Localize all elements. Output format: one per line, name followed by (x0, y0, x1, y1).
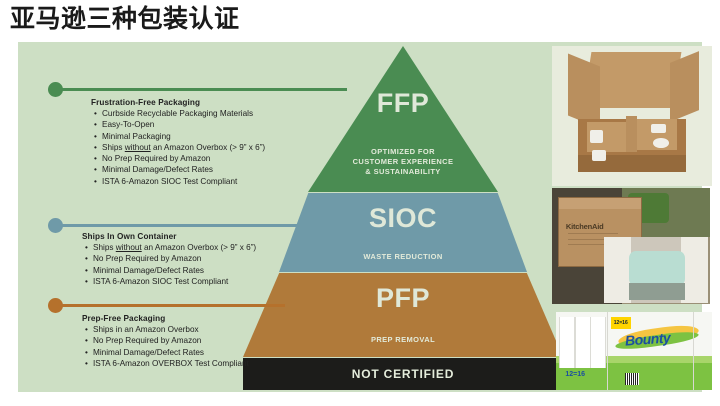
callout-dot-pfp (48, 298, 63, 313)
list-item: Easy-To-Open (102, 119, 265, 130)
list-item: Minimal Damage/Defect Rates (102, 164, 265, 175)
list-item: No Prep Required by Amazon (93, 253, 256, 264)
pyramid-tier-ffp-subtitle: OPTIMIZED FOR CUSTOMER EXPERIENCE & SUST… (308, 147, 498, 177)
pyramid-tier-pfp-subtitle-line-1: PREP REMOVAL (243, 335, 563, 345)
bounty-pack-body: Bounty 12=16 12=16 (556, 312, 712, 390)
photo-bounty-paper-towel-pack: Bounty 12=16 12=16 (556, 312, 712, 390)
page-title: 亚马逊三种包装认证 (10, 2, 240, 36)
list-item: No Prep Required by Amazon (102, 153, 265, 164)
pyramid-tier-ffp-subtitle-line-3: & SUSTAINABILITY (308, 167, 498, 177)
callout-body-ffp: Frustration-Free Packaging Curbside Recy… (91, 98, 265, 187)
pyramid-tier-sioc-subtitle-line-1: WASTE REDUCTION (279, 252, 527, 262)
list-item: No Prep Required by Amazon (93, 335, 249, 346)
callout-body-pfp: Prep-Free Packaging Ships in an Amazon O… (82, 314, 249, 369)
callout-body-sioc: Ships In Own Container Ships without an … (82, 232, 256, 287)
list-item: ISTA 6-Amazon OVERBOX Test Compliant (93, 358, 249, 369)
callout-heading-sioc: Ships In Own Container (82, 232, 256, 241)
pyramid-tier-sioc-label: SIOC (279, 203, 527, 234)
callout-dot-sioc (48, 218, 63, 233)
callout-connector-line-ffp (55, 88, 347, 91)
photo-kitchenaid-carton-and-mixer: KitchenAid (552, 188, 710, 304)
pyramid-tier-pfp-label: PFP (243, 283, 563, 314)
list-item: ISTA 6-Amazon SIOC Test Compliant (93, 276, 256, 287)
callout-bullet-list-sioc: Ships without an Amazon Overbox (> 9” x … (82, 242, 256, 287)
pyramid-tier-pfp[interactable]: PFP PREP REMOVAL (243, 273, 563, 357)
list-item: ISTA 6-Amazon SIOC Test Compliant (102, 176, 265, 187)
callout-bullet-list-pfp: Ships in an Amazon Overbox No Prep Requi… (82, 324, 249, 369)
list-item: Ships without an Amazon Overbox (> 9” x … (102, 142, 265, 153)
bounty-barcode (625, 373, 639, 385)
pyramid-tier-ffp-subtitle-line-2: CUSTOMER EXPERIENCE (308, 157, 498, 167)
kitchenaid-brand-text: KitchenAid (566, 222, 604, 231)
pyramid-tier-ffp-label: FFP (308, 88, 498, 119)
list-item: Curbside Recyclable Packaging Materials (102, 108, 265, 119)
photo-open-corrugated-box (552, 46, 712, 186)
pyramid-tier-sioc[interactable]: SIOC WASTE REDUCTION (279, 193, 527, 272)
bounty-count-badge: 12=16 (611, 317, 631, 329)
callout-dot-ffp (48, 82, 63, 97)
callout-heading-pfp: Prep-Free Packaging (82, 314, 249, 323)
callout-connector-line-pfp (55, 304, 285, 307)
pyramid-tier-sioc-subtitle: WASTE REDUCTION (279, 252, 527, 262)
list-item: Ships in an Amazon Overbox (93, 324, 249, 335)
list-item: Ships without an Amazon Overbox (> 9” x … (93, 242, 256, 253)
bounty-brand-text: Bounty (624, 329, 670, 348)
kitchenaid-scene: KitchenAid (552, 188, 710, 304)
pyramid-base-not-certified: NOT CERTIFIED (243, 358, 563, 390)
pyramid-tier-pfp-subtitle: PREP REMOVAL (243, 335, 563, 345)
pyramid-tier-ffp[interactable]: FFP OPTIMIZED FOR CUSTOMER EXPERIENCE & … (308, 46, 498, 192)
kitchenaid-mixer-inset (604, 237, 708, 303)
callout-heading-ffp: Frustration-Free Packaging (91, 98, 265, 107)
list-item: Minimal Damage/Defect Rates (93, 265, 256, 276)
bounty-count-text: 12=16 (565, 371, 585, 378)
pyramid-tier-ffp-subtitle-line-1: OPTIMIZED FOR (308, 147, 498, 157)
list-item: Minimal Damage/Defect Rates (93, 347, 249, 358)
callout-bullet-list-ffp: Curbside Recyclable Packaging Materials … (91, 108, 265, 187)
list-item: Minimal Packaging (102, 131, 265, 142)
callout-connector-line-sioc (55, 224, 320, 227)
